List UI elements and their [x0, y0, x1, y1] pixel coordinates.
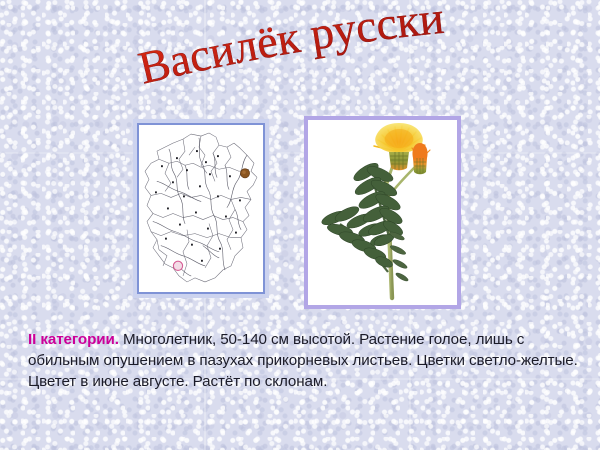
region-distribution-map [139, 125, 263, 292]
category-label: II категории. [28, 331, 119, 348]
map-picture-canvas [137, 123, 265, 294]
plant-flower-bud [412, 143, 430, 174]
brown-site-marker [240, 169, 249, 178]
plant-picture-frame[interactable] [304, 116, 461, 309]
slide-title: Василёк русский [0, 8, 600, 94]
background-seam-horizontal-1 [0, 152, 600, 154]
plant-picture-canvas [308, 120, 457, 305]
title-wordart: Василёк русский [0, 8, 600, 94]
slide: Василёк русский [0, 0, 600, 450]
title-text: Василёк русский [0, 0, 446, 94]
map-picture-frame[interactable] [133, 119, 269, 298]
centaurea-ruthenica-illustration [310, 122, 455, 303]
description-line-1: Многолетник, 50-140 см высотой. Растение… [119, 331, 513, 348]
pink-site-marker [173, 261, 182, 270]
svg-text:Василёк русский: Василёк русский [0, 0, 446, 94]
description-text: II категории. Многолетник, 50-140 см выс… [28, 329, 584, 392]
